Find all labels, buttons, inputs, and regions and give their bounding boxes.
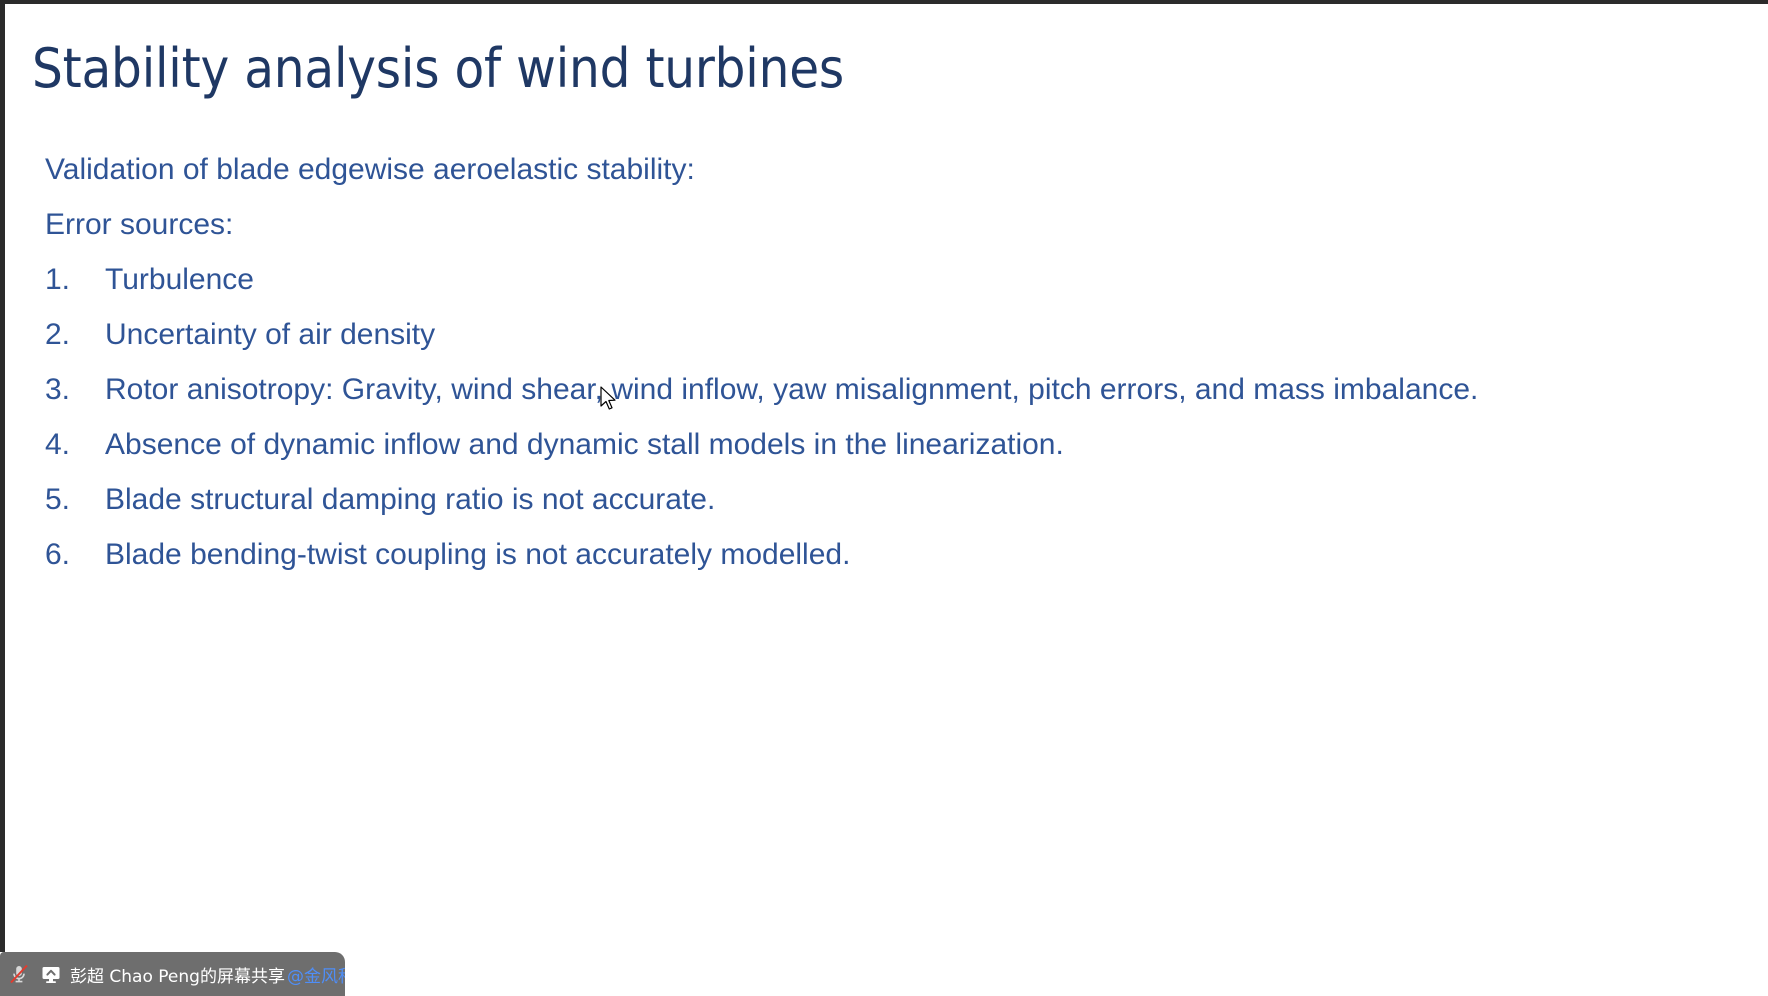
list-item-label: Blade structural damping ratio is not ac…: [105, 472, 1495, 527]
list-item-number: 3.: [45, 362, 105, 417]
screen-share-icon[interactable]: [38, 961, 64, 987]
list-item: 3. Rotor anisotropy: Gravity, wind shear…: [45, 362, 1495, 417]
list-item: 5. Blade structural damping ratio is not…: [45, 472, 1495, 527]
share-bar-organization-label: @金风科技: [287, 962, 345, 987]
microphone-muted-icon[interactable]: [6, 961, 32, 987]
list-item-label: Rotor anisotropy: Gravity, wind shear, w…: [105, 362, 1495, 417]
slide-body: Validation of blade edgewise aeroelastic…: [45, 142, 1495, 582]
list-item-label: Uncertainty of air density: [105, 307, 1495, 362]
screen-share-status-bar[interactable]: 彭超 Chao Peng的屏幕共享 @金风科技: [0, 952, 345, 996]
list-item-number: 4.: [45, 417, 105, 472]
list-item-label: Turbulence: [105, 252, 1495, 307]
slide-section-heading: Error sources:: [45, 197, 1495, 252]
shared-screen-frame: Stability analysis of wind turbines Vali…: [0, 0, 1768, 996]
list-item-label: Blade bending-twist coupling is not accu…: [105, 527, 1495, 582]
share-bar-presenter-label: 彭超 Chao Peng的屏幕共享: [70, 962, 285, 987]
list-item-number: 1.: [45, 252, 105, 307]
list-item: 6. Blade bending-twist coupling is not a…: [45, 527, 1495, 582]
list-item-number: 5.: [45, 472, 105, 527]
list-item-label: Absence of dynamic inflow and dynamic st…: [105, 417, 1495, 472]
slide-intro-line: Validation of blade edgewise aeroelastic…: [45, 142, 1495, 197]
list-item: 1. Turbulence: [45, 252, 1495, 307]
list-item: 4. Absence of dynamic inflow and dynamic…: [45, 417, 1495, 472]
list-item: 2. Uncertainty of air density: [45, 307, 1495, 362]
page-title: Stability analysis of wind turbines: [32, 38, 844, 100]
list-item-number: 2.: [45, 307, 105, 362]
list-item-number: 6.: [45, 527, 105, 582]
presentation-slide: Stability analysis of wind turbines Vali…: [5, 4, 1768, 952]
